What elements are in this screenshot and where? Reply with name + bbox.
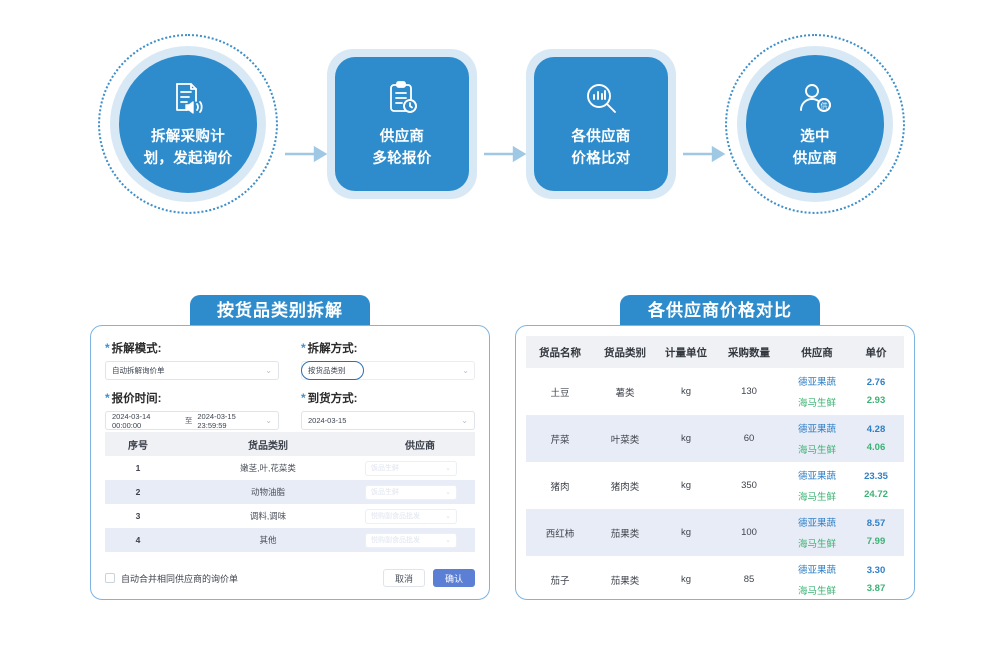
field-arrival-method: * 到货方式: 2024-03-15 ⌄ <box>301 390 475 430</box>
left-panel-footer: 自动合并相同供应商的询价单 取消 确认 <box>105 569 475 587</box>
column-header-unit-price: 单价 <box>852 345 900 360</box>
table-row[interactable]: 芹菜 叶菜类 kg 60 德亚果蔬 海马生鲜 4.28 4.06 <box>526 415 904 462</box>
cell-no: 3 <box>105 511 171 521</box>
cell-unit: kg <box>656 386 716 397</box>
cell-price-b: 24.72 <box>864 489 888 500</box>
flow-step-2-label: 供应商多轮报价 <box>372 127 431 169</box>
cell-price-a: 3.30 <box>867 565 886 576</box>
supplier-select[interactable]: 饭品生鲜 ⌄ <box>365 461 457 476</box>
cell-supplier-a: 德亚果蔬 <box>798 468 836 482</box>
chevron-down-icon: ⌄ <box>445 536 451 544</box>
quote-time-range-picker[interactable]: 2024-03-14 00:00:00 至 2024-03-15 23:59:5… <box>105 411 279 430</box>
chevron-down-icon: ⌄ <box>265 367 272 375</box>
supplier-placeholder: 饭品生鲜 <box>371 487 399 497</box>
cell-price-b: 3.87 <box>867 583 886 594</box>
cell-supplier-b: 海马生鲜 <box>798 395 836 409</box>
table-row[interactable]: 西红柿 茄果类 kg 100 德亚果蔬 海马生鲜 8.57 7.99 <box>526 509 904 556</box>
confirm-button[interactable]: 确认 <box>433 569 475 587</box>
cell-unit: kg <box>656 433 716 444</box>
required-marker: * <box>105 342 110 354</box>
flow-step-2[interactable]: 供应商多轮报价 <box>327 34 477 199</box>
cell-price-b: 2.93 <box>867 395 886 406</box>
table-header-row: 货品名称 货品类别 计量单位 采购数量 供应商 单价 <box>526 336 904 368</box>
cell-supplier-b: 海马生鲜 <box>798 536 836 550</box>
cell-price-a: 2.76 <box>867 377 886 388</box>
right-panel-tab-title: 各供应商价格对比 <box>620 295 820 327</box>
column-header-quantity: 采购数量 <box>716 345 782 360</box>
cell-quantity: 100 <box>716 527 782 538</box>
supplier-price-comparison-table: 货品名称 货品类别 计量单位 采购数量 供应商 单价 土豆 薯类 kg 130 … <box>526 336 904 603</box>
cell-unit: kg <box>656 574 716 585</box>
left-panel-tab-title: 按货品类别拆解 <box>190 295 370 327</box>
table-row[interactable]: 1 嫩茎,叶,花菜类 饭品生鲜 ⌄ <box>105 456 475 480</box>
field-split-mode: * 拆解模式: 自动拆解询价单 ⌄ <box>105 340 279 380</box>
column-header-no: 序号 <box>105 437 171 452</box>
split-method-value: 按货品类别 <box>308 365 346 376</box>
cell-supplier-b: 海马生鲜 <box>798 583 836 597</box>
cell-quantity: 350 <box>716 480 782 491</box>
cell-goods-name: 茄子 <box>526 573 594 587</box>
table-header-row: 序号 货品类别 供应商 <box>105 432 475 456</box>
supplier-placeholder: 悦购副食品批发 <box>371 511 420 521</box>
split-mode-label: * 拆解模式: <box>105 340 279 356</box>
cell-unit: kg <box>656 527 716 538</box>
arrow-right-icon-2 <box>484 146 530 162</box>
cell-quantity: 60 <box>716 433 782 444</box>
cell-category: 嫩茎,叶,花菜类 <box>171 462 365 474</box>
cell-no: 1 <box>105 463 171 473</box>
cell-price-a: 23.35 <box>864 471 888 482</box>
chevron-down-icon: ⌄ <box>461 417 468 425</box>
required-marker: * <box>105 392 110 404</box>
split-method-select[interactable]: 按货品类别 <box>301 361 364 380</box>
flow-step-1-label: 拆解采购计划，发起询价 <box>144 127 233 169</box>
cell-goods-category: 薯类 <box>594 385 656 399</box>
chevron-down-icon: ⌄ <box>445 488 451 496</box>
supplier-select[interactable]: 饭品生鲜 ⌄ <box>365 485 457 500</box>
cell-category: 动物油脂 <box>171 486 365 498</box>
cell-goods-name: 土豆 <box>526 385 594 399</box>
supplier-placeholder: 悦购副食品批发 <box>371 535 420 545</box>
cell-unit: kg <box>656 480 716 491</box>
cell-goods-name: 猪肉 <box>526 479 594 493</box>
cell-goods-category: 猪肉类 <box>594 479 656 493</box>
cell-supplier-a: 德亚果蔬 <box>798 421 836 435</box>
auto-merge-label: 自动合并相同供应商的询价单 <box>121 572 238 585</box>
auto-merge-checkbox[interactable] <box>105 573 115 583</box>
cell-category: 调料,调味 <box>171 510 365 522</box>
flow-step-3-label: 各供应商价格比对 <box>571 127 630 169</box>
field-split-method: * 拆解方式: 按货品类别 ⌄ <box>301 340 475 380</box>
quote-time-start: 2024-03-14 00:00:00 <box>112 412 180 430</box>
cell-quantity: 130 <box>716 386 782 397</box>
cell-goods-category: 茄果类 <box>594 573 656 587</box>
table-row[interactable]: 2 动物油脂 饭品生鲜 ⌄ <box>105 480 475 504</box>
svg-text:供: 供 <box>821 101 828 110</box>
arrival-method-select[interactable]: 2024-03-15 ⌄ <box>301 411 475 430</box>
cell-no: 4 <box>105 535 171 545</box>
cell-no: 2 <box>105 487 171 497</box>
split-mode-value: 自动拆解询价单 <box>112 365 165 376</box>
supplier-select[interactable]: 悦购副食品批发 ⌄ <box>365 533 457 548</box>
table-row[interactable]: 猪肉 猪肉类 kg 350 德亚果蔬 海马生鲜 23.35 24.72 <box>526 462 904 509</box>
flow-step-3[interactable]: 各供应商价格比对 <box>526 34 676 199</box>
chevron-down-icon: ⌄ <box>265 417 272 425</box>
flow-step-1[interactable]: 拆解采购计划，发起询价 <box>98 34 278 214</box>
split-mode-select[interactable]: 自动拆解询价单 ⌄ <box>105 361 279 380</box>
cell-goods-name: 西红柿 <box>526 526 594 540</box>
cell-category: 其他 <box>171 534 365 546</box>
cancel-button[interactable]: 取消 <box>383 569 425 587</box>
column-header-goods-category: 货品类别 <box>594 345 656 360</box>
flow-step-4-label: 选中供应商 <box>793 127 837 169</box>
column-header-category: 货品类别 <box>171 437 365 452</box>
cell-supplier-b: 海马生鲜 <box>798 489 836 503</box>
quote-time-end: 2024-03-15 23:59:59 <box>197 412 265 430</box>
quote-time-label: * 报价时间: <box>105 390 279 406</box>
cell-quantity: 85 <box>716 574 782 585</box>
cell-supplier-a: 德亚果蔬 <box>798 374 836 388</box>
arrival-method-label: * 到货方式: <box>301 390 475 406</box>
supplier-select[interactable]: 悦购副食品批发 ⌄ <box>365 509 457 524</box>
cell-price-a: 8.57 <box>867 518 886 529</box>
chevron-down-icon: ⌄ <box>445 512 451 520</box>
cell-supplier-a: 德亚果蔬 <box>798 562 836 576</box>
clipboard-clock-icon <box>382 78 422 118</box>
cell-goods-name: 芹菜 <box>526 432 594 446</box>
date-range-separator: 至 <box>185 415 193 426</box>
cell-price-a: 4.28 <box>867 424 886 435</box>
cell-goods-category: 茄果类 <box>594 526 656 540</box>
flow-step-4[interactable]: 供 选中供应商 <box>725 34 905 214</box>
category-split-table: 序号 货品类别 供应商 1 嫩茎,叶,花菜类 饭品生鲜 ⌄ 2 动物油脂 饭品生… <box>105 432 475 552</box>
cell-supplier-b: 海马生鲜 <box>798 442 836 456</box>
cell-supplier-a: 德亚果蔬 <box>798 515 836 529</box>
cell-price-b: 4.06 <box>867 442 886 453</box>
chart-search-icon <box>581 78 621 118</box>
split-form: * 拆解模式: 自动拆解询价单 ⌄ * 拆解方式: <box>105 340 475 430</box>
chevron-down-icon: ⌄ <box>462 366 469 375</box>
column-header-unit: 计量单位 <box>656 345 716 360</box>
table-row[interactable]: 茄子 茄果类 kg 85 德亚果蔬 海马生鲜 3.30 3.87 <box>526 556 904 603</box>
required-marker: * <box>301 342 306 354</box>
table-row[interactable]: 4 其他 悦购副食品批发 ⌄ <box>105 528 475 552</box>
cell-price-b: 7.99 <box>867 536 886 547</box>
table-row[interactable]: 土豆 薯类 kg 130 德亚果蔬 海马生鲜 2.76 2.93 <box>526 368 904 415</box>
user-supplier-icon: 供 <box>795 78 835 118</box>
process-flow: 拆解采购计划，发起询价 <box>0 34 1000 239</box>
split-method-label: * 拆解方式: <box>301 340 475 356</box>
left-panel: 按货品类别拆解 * 拆解模式: 自动拆解询价单 ⌄ * <box>90 295 490 605</box>
arrow-right-icon-1 <box>285 146 331 162</box>
column-header-supplier: 供应商 <box>782 345 852 360</box>
cell-goods-category: 叶菜类 <box>594 432 656 446</box>
supplier-placeholder: 饭品生鲜 <box>371 463 399 473</box>
column-header-supplier: 供应商 <box>405 437 435 452</box>
field-quote-time: * 报价时间: 2024-03-14 00:00:00 至 2024-03-15… <box>105 390 279 430</box>
arrow-right-icon-3 <box>683 146 729 162</box>
chevron-down-icon: ⌄ <box>445 464 451 472</box>
column-header-goods-name: 货品名称 <box>526 345 594 360</box>
document-audio-icon <box>168 78 208 118</box>
arrival-method-value: 2024-03-15 <box>308 416 346 425</box>
required-marker: * <box>301 392 306 404</box>
table-row[interactable]: 3 调料,调味 悦购副食品批发 ⌄ <box>105 504 475 528</box>
right-panel: 各供应商价格对比 货品名称 货品类别 计量单位 采购数量 供应商 单价 土豆 薯… <box>515 295 915 605</box>
